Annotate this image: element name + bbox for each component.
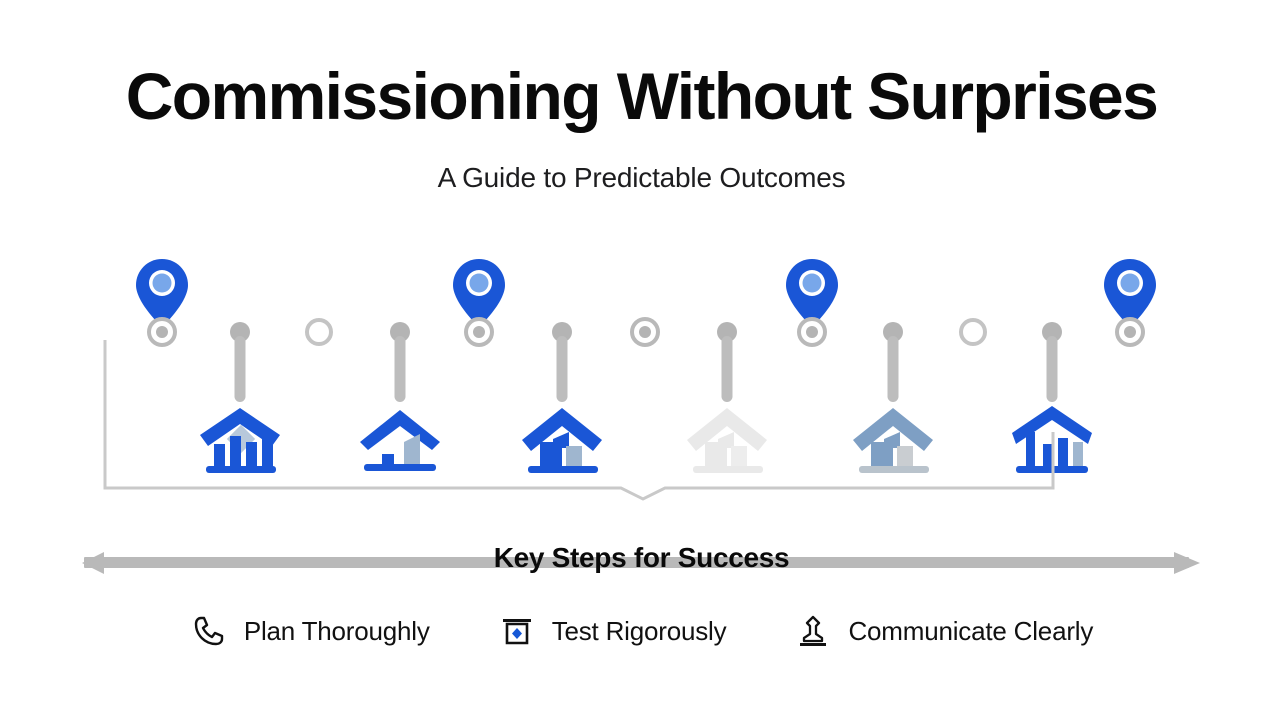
key-step-item[interactable]: Communicate Clearly (760, 612, 1127, 650)
key-step-label: Test Rigorously (552, 616, 727, 647)
page-title: Commissioning Without Surprises (0, 62, 1283, 131)
beaker-icon (498, 612, 536, 650)
slide-root: Commissioning Without Surprises A Guide … (0, 0, 1283, 722)
key-step-item[interactable]: Test Rigorously (464, 612, 761, 650)
key-steps-list: Plan ThoroughlyTest RigorouslyCommunicat… (0, 603, 1283, 659)
key-step-label: Plan Thoroughly (244, 616, 430, 647)
key-step-label: Communicate Clearly (848, 616, 1093, 647)
key-step-item[interactable]: Plan Thoroughly (156, 612, 464, 650)
page-subtitle: A Guide to Predictable Outcomes (0, 162, 1283, 194)
phone-icon (190, 612, 228, 650)
stamp-icon (794, 612, 832, 650)
key-steps-title: Key Steps for Success (0, 542, 1283, 574)
timeline-bracket (0, 230, 1283, 510)
